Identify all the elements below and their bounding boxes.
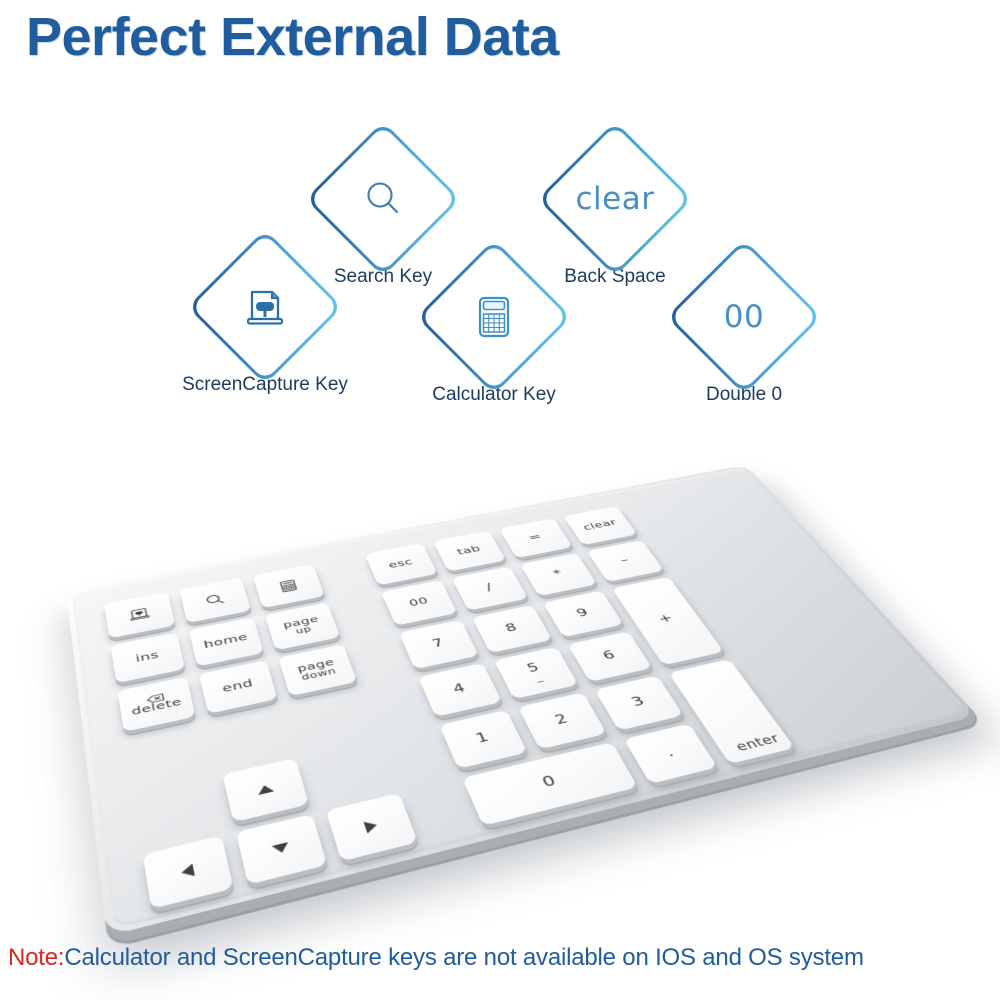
key-plus[interactable]: + — [612, 577, 724, 666]
key-label: * — [551, 569, 565, 580]
key-label: – — [618, 555, 632, 566]
key-6[interactable]: 6 — [568, 631, 653, 682]
note-prefix: Note: — [8, 944, 64, 971]
key-label: delete — [131, 697, 183, 717]
key-delete[interactable]: delete — [118, 677, 196, 732]
key-1[interactable]: 1 — [439, 710, 527, 769]
key-9[interactable]: 9 — [543, 591, 624, 638]
key-arrow-up[interactable] — [222, 758, 309, 822]
key-decimal[interactable]: . — [624, 724, 718, 784]
key-equals[interactable]: = — [499, 518, 573, 558]
feature-screencapture-key: ScreenCapture Key — [182, 252, 348, 396]
key-label: 7 — [431, 638, 447, 651]
key-label: 00 — [408, 596, 430, 608]
key-search[interactable] — [179, 578, 251, 623]
key-label: home — [203, 632, 249, 650]
key-label: 3 — [629, 695, 647, 709]
feature-diamond-group: Search Key clear Back Space — [0, 130, 1000, 420]
key-label: / — [484, 583, 495, 594]
key-label: 4 — [451, 682, 468, 696]
key-label: 8 — [504, 622, 520, 635]
key-esc[interactable]: esc — [365, 543, 438, 585]
key-home[interactable]: home — [189, 617, 264, 666]
key-sublabel: _ — [533, 673, 544, 682]
key-minus[interactable]: – — [587, 540, 664, 582]
diamond-frame: clear — [537, 121, 693, 277]
page-title: Perfect External Data — [26, 6, 559, 68]
key-5[interactable]: 5 _ — [494, 647, 578, 699]
search-icon — [360, 176, 406, 222]
key-end[interactable]: end — [199, 660, 278, 714]
key-ins[interactable]: ins — [110, 632, 184, 683]
screen-capture-icon — [239, 281, 291, 333]
diamond-frame — [416, 239, 572, 395]
footer-note: Note:Calculator and ScreenCapture keys a… — [8, 944, 864, 972]
key-arrow-left[interactable] — [143, 836, 234, 909]
key-layout: ins home page up delete — [66, 465, 977, 936]
diamond-frame — [187, 229, 343, 385]
key-label: esc — [387, 558, 414, 571]
keyboard-illustration: ins home page up delete — [0, 405, 1000, 925]
key-label: page — [296, 658, 336, 675]
double-zero-text: 00 — [724, 299, 764, 335]
diamond-frame: 00 — [666, 239, 822, 395]
key-3[interactable]: 3 — [595, 675, 684, 730]
key-label: . — [663, 746, 677, 760]
key-label: 9 — [575, 607, 591, 619]
key-divide[interactable]: / — [452, 566, 529, 610]
calculator-icon — [276, 578, 301, 594]
key-double-zero[interactable]: 00 — [381, 580, 457, 626]
key-label: 2 — [553, 713, 571, 728]
key-label: clear — [582, 519, 619, 533]
key-arrow-down[interactable] — [236, 814, 327, 885]
key-sublabel: down — [300, 666, 337, 681]
key-page-down[interactable]: page down — [278, 644, 357, 696]
key-label: = — [527, 532, 545, 543]
key-label: 6 — [601, 649, 618, 662]
key-multiply[interactable]: * — [520, 553, 597, 596]
calculator-icon — [469, 291, 519, 343]
search-icon — [203, 592, 227, 608]
key-label: tab — [456, 545, 483, 557]
key-7[interactable]: 7 — [399, 620, 479, 669]
key-label: 5 — [525, 662, 542, 676]
numeric-keypad-device: ins home page up delete — [66, 465, 977, 936]
product-feature-image: Perfect External Data Search Key — [0, 0, 1000, 1000]
triangle-down-icon — [272, 842, 291, 855]
key-tab[interactable]: tab — [433, 531, 506, 572]
key-0[interactable]: 0 — [462, 742, 638, 826]
key-label: end — [221, 678, 254, 695]
screen-capture-icon — [126, 605, 152, 623]
key-2[interactable]: 2 — [518, 692, 607, 749]
clear-text: clear — [576, 181, 655, 217]
key-clear[interactable]: clear — [563, 506, 637, 545]
key-enter[interactable]: enter — [669, 659, 795, 764]
note-text: Calculator and ScreenCapture keys are no… — [64, 944, 863, 971]
key-calculator[interactable] — [252, 564, 324, 608]
triangle-left-icon — [180, 864, 195, 880]
key-4[interactable]: 4 — [418, 663, 502, 717]
feature-calculator-key: Calculator Key — [419, 262, 569, 406]
key-label: + — [656, 613, 676, 626]
key-sublabel: up — [295, 625, 313, 635]
key-screencapture[interactable] — [104, 592, 175, 639]
key-page-up[interactable]: page up — [265, 603, 341, 651]
triangle-right-icon — [364, 819, 379, 833]
feature-double-zero: 00 Double 0 — [669, 262, 819, 406]
delete-x-icon — [145, 693, 164, 704]
key-label: 0 — [540, 774, 559, 791]
key-label: 1 — [474, 731, 492, 746]
triangle-up-icon — [256, 784, 274, 795]
key-8[interactable]: 8 — [472, 605, 552, 653]
key-label: enter — [734, 733, 783, 754]
